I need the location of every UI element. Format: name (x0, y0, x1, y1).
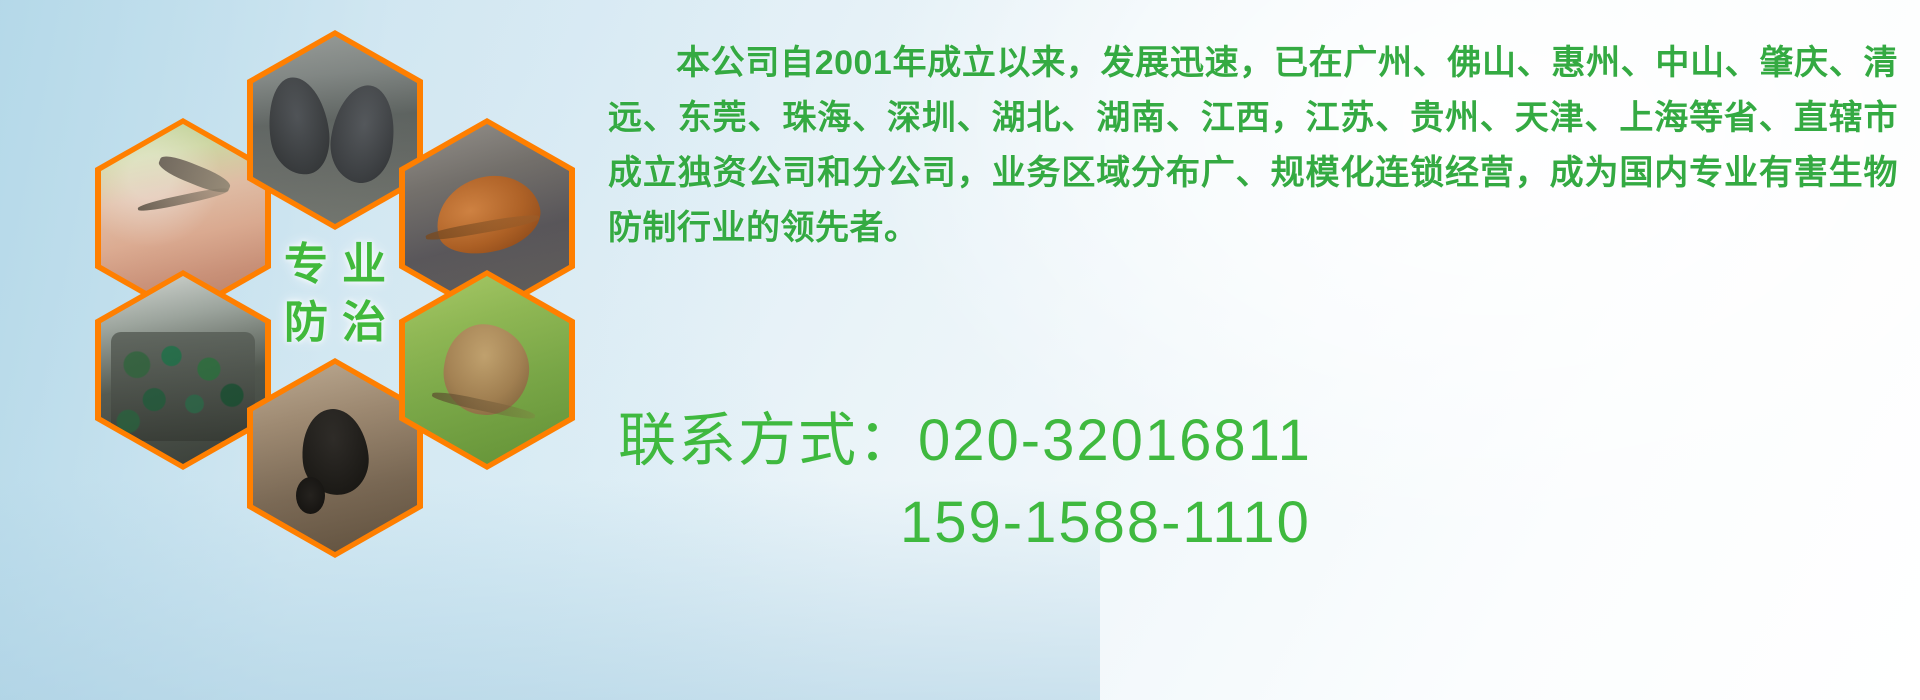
center-logo-hexagon: 专业 防治 (247, 194, 423, 394)
hex-photo-stinkbug (399, 270, 575, 470)
flies-image (101, 276, 265, 464)
pest-control-banner: 专业 防治 本公司自2001年成立以来，发展迅速，已在广州、佛山、惠州、中山、肇… (0, 0, 1920, 700)
company-about-paragraph: 本公司自2001年成立以来，发展迅速，已在广州、佛山、惠州、中山、肇庆、清远、东… (608, 36, 1898, 256)
logo-line-1: 专业 (270, 243, 400, 287)
stinkbug-image (405, 276, 569, 464)
contact-block: 联系方式：020-32016811 159-1588-1110 (618, 400, 1908, 564)
hex-photo-flies (95, 270, 271, 470)
hexagon-photo-cluster: 专业 防治 (95, 8, 595, 568)
contact-phone-primary[interactable]: 联系方式：020-32016811 (618, 400, 1908, 482)
contact-phone-secondary[interactable]: 159-1588-1110 (618, 482, 1908, 564)
logo-line-2: 防治 (270, 301, 400, 345)
